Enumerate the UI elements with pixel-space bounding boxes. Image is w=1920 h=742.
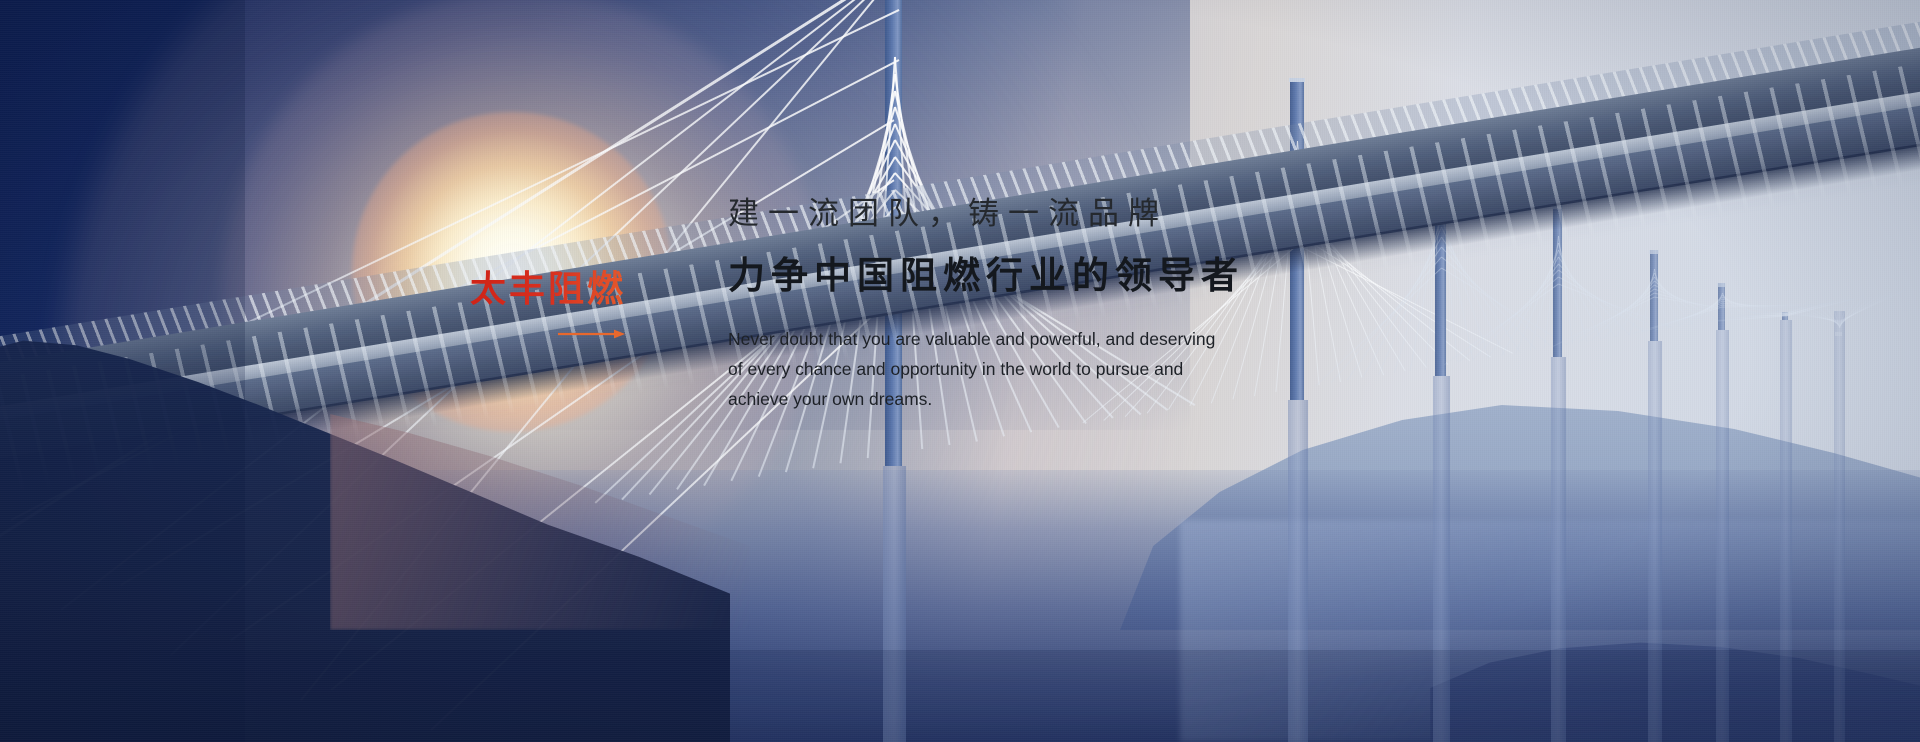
subcopy-line-2: of every chance and opportunity in the w… [728, 354, 1288, 384]
hero-copy: 建一流团队，铸一流品牌 力争中国阻燃行业的领导者 Never doubt tha… [728, 192, 1348, 414]
subcopy-line-1: Never doubt that you are valuable and po… [728, 324, 1288, 354]
headline-secondary: 力争中国阻燃行业的领导者 [728, 250, 1348, 302]
headline-primary: 建一流团队，铸一流品牌 [728, 192, 1348, 236]
brand-logo[interactable]: 太丰阻燃 [470, 268, 650, 348]
arrow-right-icon [558, 328, 626, 340]
hero-subcopy: Never doubt that you are valuable and po… [728, 324, 1288, 414]
hero-banner: 太丰阻燃 建一流团队，铸一流品牌 力争中国阻燃行业的领导者 Never doub… [0, 0, 1920, 742]
brand-logo-text: 太丰阻燃 [470, 268, 650, 312]
subcopy-line-3: achieve your own dreams. [728, 384, 1288, 414]
